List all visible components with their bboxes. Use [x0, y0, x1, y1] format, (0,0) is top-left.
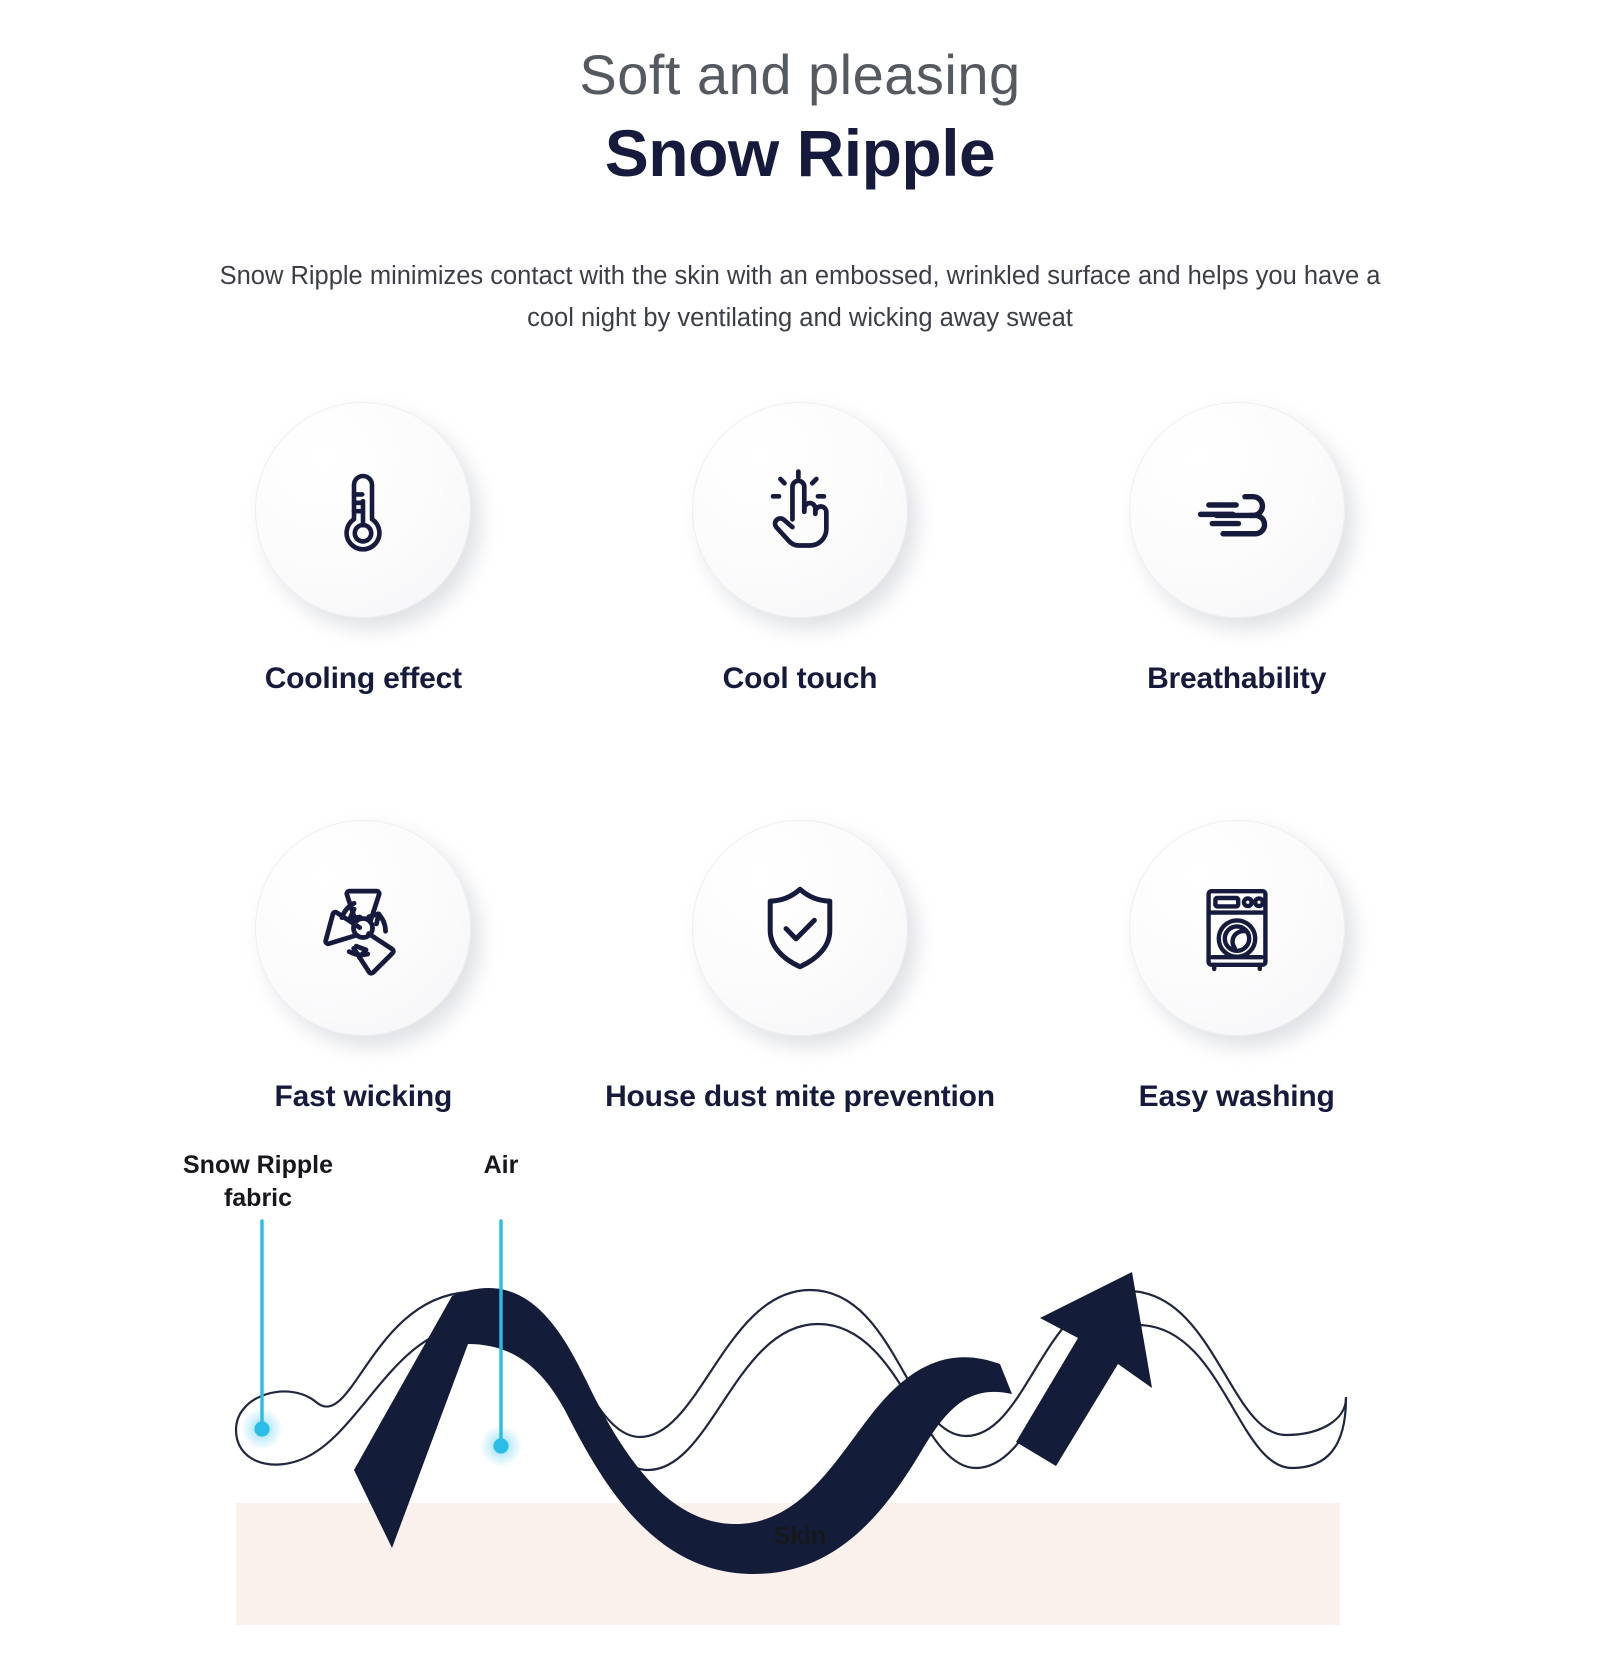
page-title: Snow Ripple: [0, 115, 1600, 193]
callout-label-air: Air: [426, 1149, 576, 1182]
feature-icon-bubble: [255, 402, 471, 618]
callout-fabric-line-2: fabric: [163, 1182, 353, 1215]
feature-fast-wicking[interactable]: Fast wicking: [145, 820, 582, 1114]
feature-label: Easy washing: [1139, 1080, 1335, 1114]
fan-icon: [311, 876, 415, 980]
leader-dot-fabric: [254, 1422, 269, 1437]
feature-cool-touch[interactable]: Cool touch: [582, 402, 1019, 696]
tap-hand-icon: [751, 461, 849, 559]
callout-fabric-line-1: Snow Ripple: [163, 1149, 353, 1182]
feature-dust-mite-prevention[interactable]: House dust mite prevention: [582, 820, 1019, 1114]
feature-label: Cool touch: [723, 662, 878, 696]
feature-label: Breathability: [1147, 662, 1326, 696]
feature-label: House dust mite prevention: [605, 1080, 995, 1114]
feature-label: Cooling effect: [265, 662, 462, 696]
diagram-canvas: [0, 1148, 1600, 1668]
feature-label: Fast wicking: [275, 1080, 453, 1114]
product-feature-page: Soft and pleasing Snow Ripple Snow Rippl…: [0, 0, 1600, 1600]
feature-icon-bubble: [1129, 402, 1345, 618]
feature-icon-bubble: [255, 820, 471, 1036]
leader-dot-air: [493, 1439, 508, 1454]
page-subtitle: Snow Ripple minimizes contact with the s…: [205, 255, 1395, 341]
callout-label-fabric: Snow Ripple fabric: [163, 1149, 353, 1215]
skin-label: Skin: [0, 1522, 1600, 1551]
feature-icon-bubble: [1129, 820, 1345, 1036]
page-header: Soft and pleasing Snow Ripple Snow Rippl…: [0, 0, 1600, 340]
header-kicker: Soft and pleasing: [0, 44, 1600, 107]
feature-grid: Cooling effect Cool: [145, 402, 1455, 1114]
thermometer-icon: [315, 462, 411, 558]
feature-cooling-effect[interactable]: Cooling effect: [145, 402, 582, 696]
shield-check-icon: [750, 878, 850, 978]
wind-icon: [1187, 460, 1287, 560]
feature-easy-washing[interactable]: Easy washing: [1018, 820, 1455, 1114]
feature-breathability[interactable]: Breathability: [1018, 402, 1455, 696]
feature-icon-bubble: [692, 402, 908, 618]
airflow-diagram: Snow Ripple fabric Air Skin: [0, 1148, 1600, 1668]
washing-machine-icon: [1189, 880, 1285, 976]
feature-icon-bubble: [692, 820, 908, 1036]
